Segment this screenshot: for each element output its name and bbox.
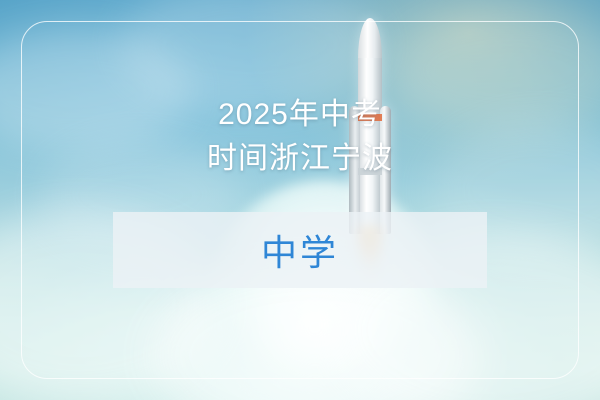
banner: 2025年中考 时间浙江宁波 中学	[0, 0, 600, 400]
rocket-nose-cone	[358, 18, 382, 62]
category-label: 中学	[261, 224, 339, 276]
page-title: 2025年中考 时间浙江宁波	[0, 93, 600, 181]
category-label-plate: 中学	[113, 212, 487, 288]
page-title-line-1: 2025年中考	[0, 93, 600, 137]
page-title-line-2: 时间浙江宁波	[0, 137, 600, 181]
